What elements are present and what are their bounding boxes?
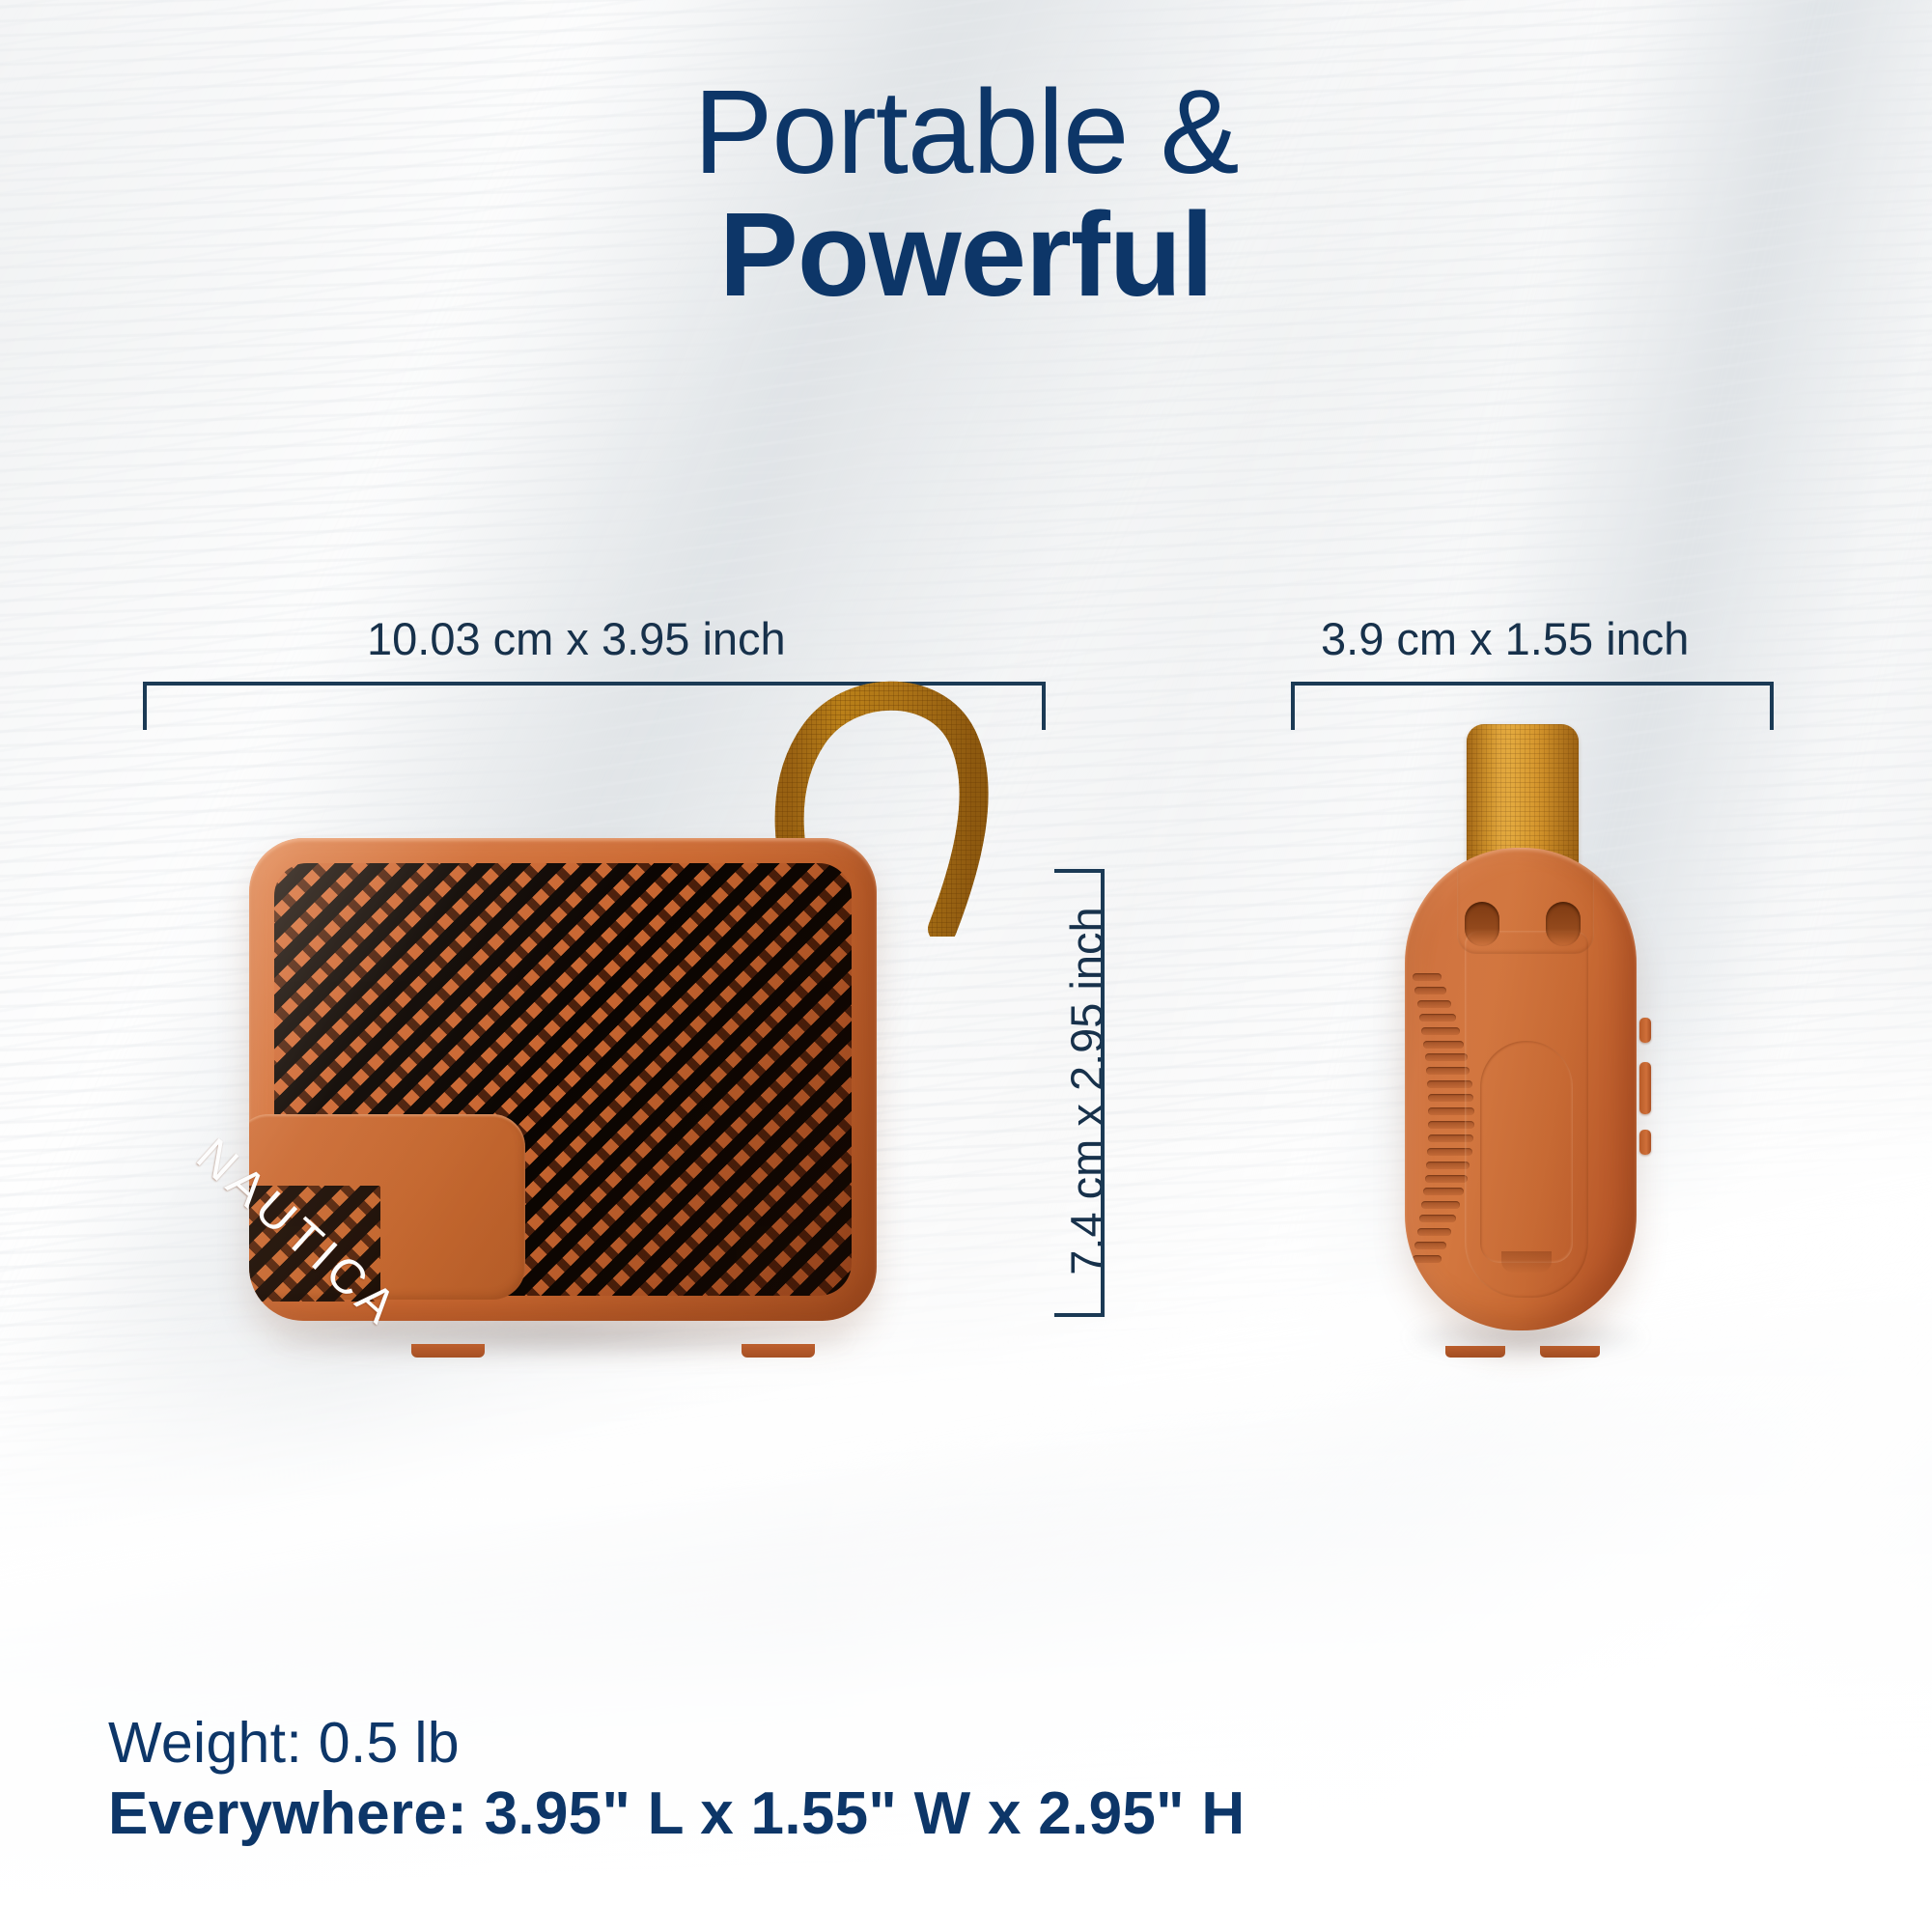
- side-vent-slot: [1425, 1053, 1468, 1061]
- side-vent-slot: [1413, 1255, 1442, 1263]
- height-dimension-bracket: [1054, 869, 1105, 1317]
- page-title: Portable & Powerful: [0, 75, 1932, 314]
- side-vent-slot: [1426, 1162, 1470, 1169]
- bracket-cap-left: [143, 682, 147, 730]
- bracket-cap-top: [1054, 869, 1105, 873]
- side-vent-slot: [1421, 1201, 1460, 1209]
- power-button[interactable]: [1639, 1018, 1651, 1043]
- strap-slot-right: [1546, 902, 1581, 946]
- headline-line-2: Powerful: [0, 198, 1932, 315]
- bluetooth-button[interactable]: [1639, 1130, 1651, 1155]
- side-vent-slot: [1417, 1000, 1451, 1008]
- side-vent-slot: [1426, 1067, 1470, 1075]
- volume-button[interactable]: [1639, 1062, 1651, 1114]
- speaker-side-body: [1405, 848, 1637, 1330]
- side-vent-slot: [1425, 1175, 1468, 1183]
- bracket-line: [1291, 682, 1774, 686]
- bracket-line: [1101, 869, 1105, 1317]
- side-vent-slot: [1417, 1228, 1451, 1236]
- speaker-side-notch: [1501, 1251, 1552, 1273]
- speaker-side-view: [1405, 848, 1646, 1350]
- bracket-cap-right: [1042, 682, 1046, 730]
- speaker-side-oval-inset: [1480, 1041, 1573, 1263]
- width-dimension-label: 10.03 cm x 3.95 inch: [367, 612, 786, 665]
- side-vent-slot: [1419, 1014, 1456, 1022]
- depth-dimension-bracket: [1291, 682, 1774, 730]
- bracket-cap-left: [1291, 682, 1295, 730]
- speaker-side-foot-left: [1445, 1346, 1505, 1358]
- side-vent-slot: [1413, 973, 1442, 981]
- spec-dimensions: Everywhere: 3.95" L x 1.55" W x 2.95" H: [108, 1780, 1245, 1847]
- headline-line-1: Portable &: [0, 75, 1932, 192]
- side-vent-slot: [1423, 1188, 1464, 1195]
- infographic-canvas: Portable & Powerful 10.03 cm x 3.95 inch…: [0, 0, 1932, 1932]
- side-vent-slot: [1419, 1215, 1456, 1222]
- spec-block: Weight: 0.5 lb Everywhere: 3.95" L x 1.5…: [108, 1711, 1245, 1848]
- depth-dimension-label: 3.9 cm x 1.55 inch: [1321, 612, 1689, 665]
- spec-weight: Weight: 0.5 lb: [108, 1711, 1245, 1775]
- side-vent-slot: [1421, 1027, 1460, 1035]
- speaker-side-foot-right: [1540, 1346, 1600, 1358]
- bracket-cap-bottom: [1054, 1313, 1105, 1317]
- speaker-foot-left: [411, 1344, 485, 1358]
- side-vent-slot: [1414, 1242, 1446, 1249]
- side-vent-slot: [1414, 987, 1446, 994]
- strap-slot-left: [1465, 902, 1499, 946]
- bracket-cap-right: [1770, 682, 1774, 730]
- side-vent-slot: [1423, 1041, 1464, 1049]
- speaker-foot-right: [742, 1344, 815, 1358]
